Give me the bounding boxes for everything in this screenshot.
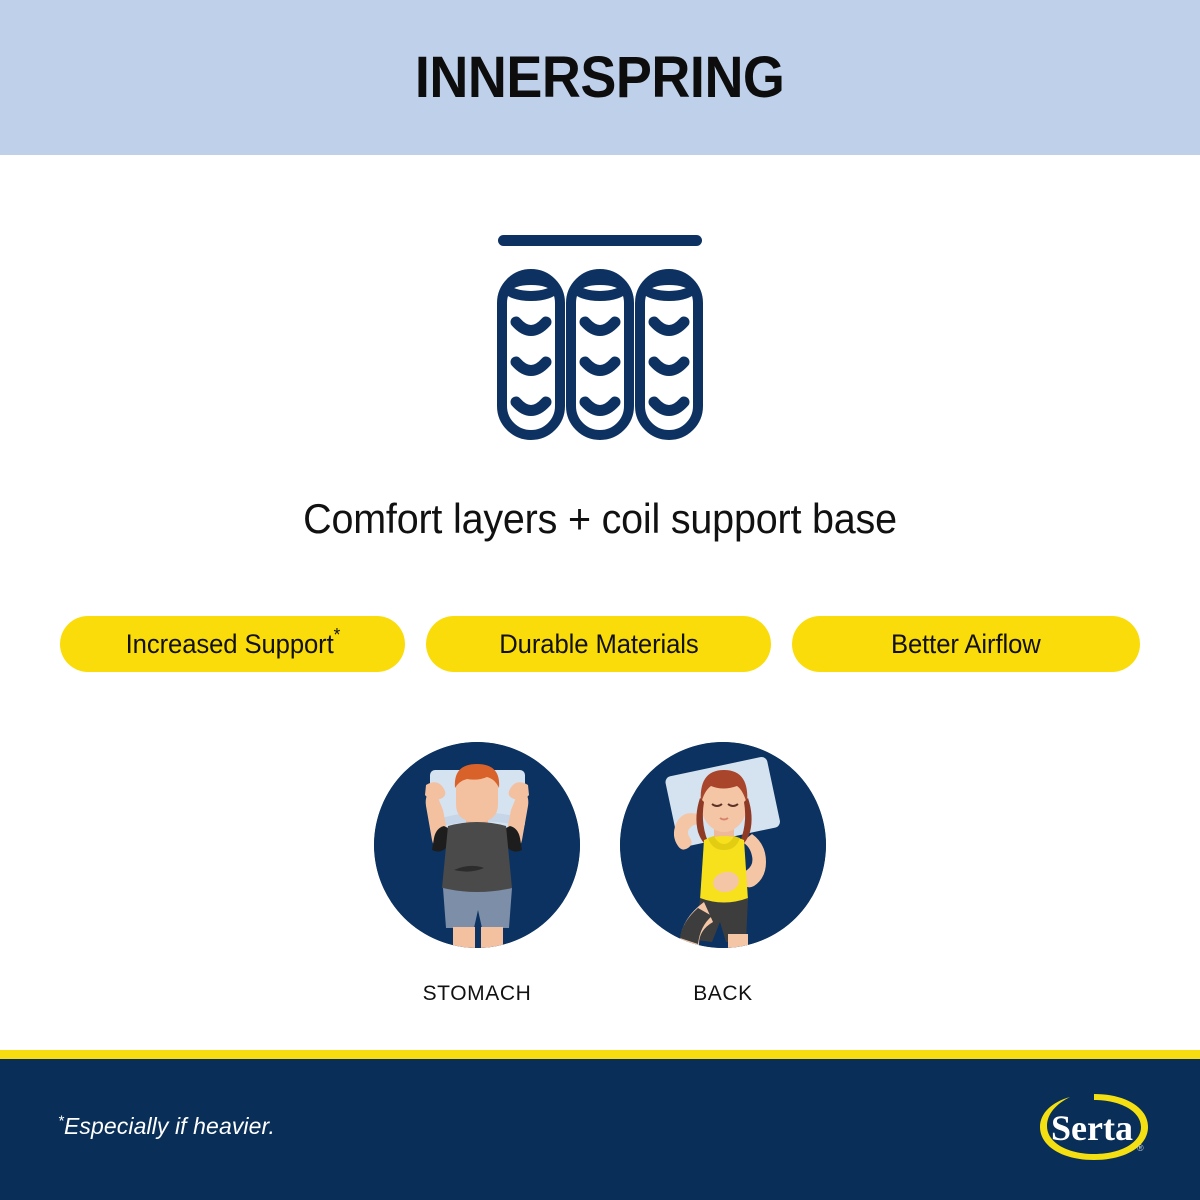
footnote-text: *Especially if heavier. [58,1113,275,1140]
coil-curl-2-3 [585,402,615,411]
sleep-position-label: STOMACH [423,982,532,1006]
coil-curl-3-3 [654,402,684,411]
right-leg [728,934,748,948]
page-title: INNERSPRING [415,49,785,107]
sleep-position-row: STOMACH [0,742,1200,1006]
coil-curl-1-2 [516,362,546,371]
feature-pill-row: Increased Support* Durable Materials Bet… [60,616,1140,672]
coil-curl-2-1 [585,322,615,331]
feature-pill-increased-support[interactable]: Increased Support* [60,616,405,672]
feature-pill-better-airflow[interactable]: Better Airflow [792,616,1140,672]
trademark-symbol: ® [1137,1143,1144,1153]
back-sleeper-circle [620,742,826,948]
footnote-label: Especially if heavier. [64,1113,275,1139]
page-header: INNERSPRING [0,0,1200,155]
comfort-layer-bar [498,235,702,246]
coil-curl-3-1 [654,322,684,331]
serta-wordmark: Serta [1051,1108,1133,1148]
right-leg [481,927,503,948]
footer-accent-rule [0,1050,1200,1059]
sleep-position-back[interactable]: BACK [620,742,826,1006]
sleep-position-stomach[interactable]: STOMACH [374,742,580,1006]
coil-top-3 [646,280,692,296]
tagline-text: Comfort layers + coil support base [36,495,1164,543]
serta-logo-mark: Serta ® [1034,1088,1154,1174]
stomach-sleeper-circle [374,742,580,948]
shirt [442,822,512,893]
feature-pill-durable-materials[interactable]: Durable Materials [426,616,771,672]
infographic-page: INNERSPRING [0,0,1200,1200]
stomach-sleeper-icon [374,742,580,948]
coil-top-2 [577,280,623,296]
coil-curl-2-2 [585,362,615,371]
left-leg [453,927,475,948]
coil-top-1 [508,280,554,296]
serta-logo[interactable]: Serta ® [1034,1088,1154,1174]
sleep-position-label: BACK [693,982,753,1006]
coil-stack-icon [480,222,720,452]
back-sleeper-icon [620,742,826,948]
hero-icon-container [0,222,1200,452]
footnote-marker-icon: * [333,625,340,645]
feature-pill-label: Increased Support [125,629,333,659]
feature-pill-label: Better Airflow [891,629,1041,660]
coil-curl-1-1 [516,322,546,331]
coil-curl-1-3 [516,402,546,411]
feature-pill-label: Durable Materials [499,629,698,660]
coil-curl-3-2 [654,362,684,371]
